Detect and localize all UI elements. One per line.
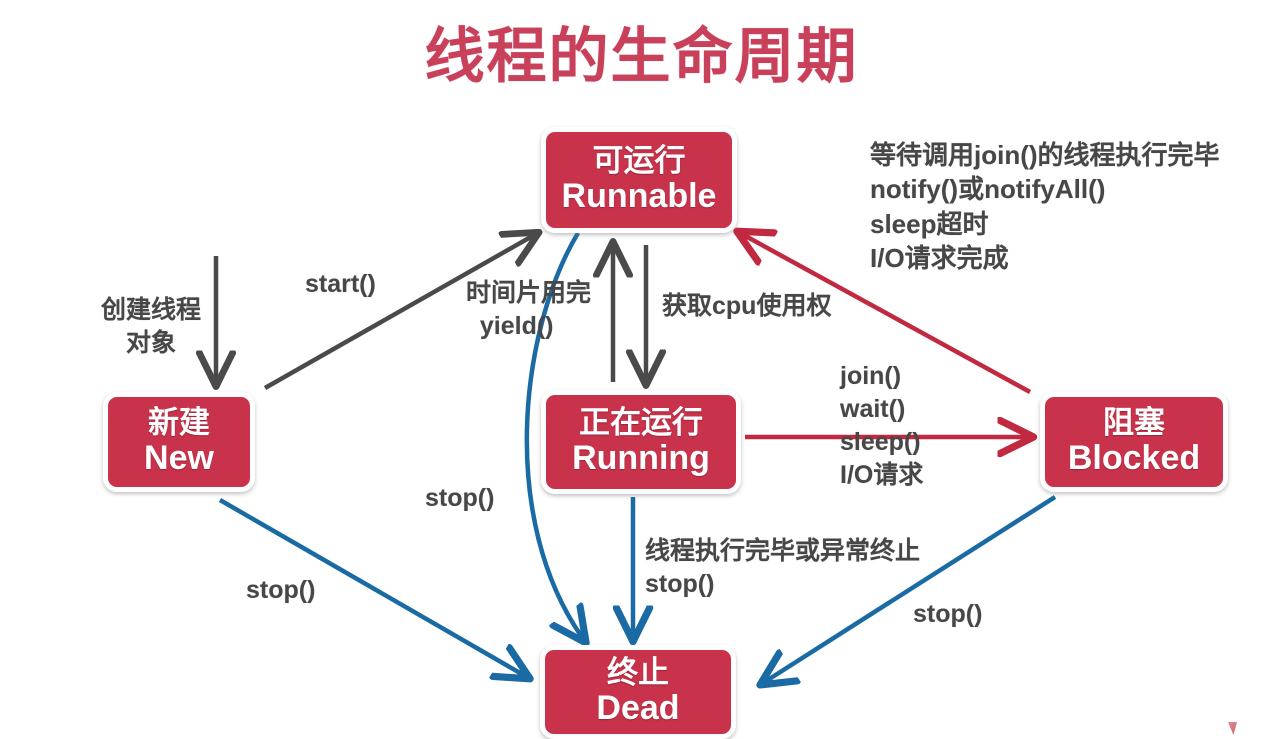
corner-mark-icon <box>1228 722 1237 735</box>
node-new[interactable]: 新建 New <box>103 392 255 492</box>
node-dead-en: Dead <box>596 690 679 727</box>
node-blocked[interactable]: 阻塞 Blocked <box>1040 392 1228 492</box>
page-title: 线程的生命周期 <box>0 8 1283 95</box>
node-new-en: New <box>144 440 214 477</box>
edge-layer <box>0 0 1283 739</box>
node-running-cn: 正在运行 <box>579 407 703 440</box>
node-blocked-cn: 阻塞 <box>1103 407 1165 440</box>
node-dead[interactable]: 终止 Dead <box>540 645 736 739</box>
label-create-thread: 创建线程 对象 <box>86 294 216 360</box>
node-runnable-en: Runnable <box>562 178 717 215</box>
node-running-en: Running <box>572 440 710 477</box>
node-runnable[interactable]: 可运行 Runnable <box>541 127 737 233</box>
node-dead-cn: 终止 <box>607 657 669 690</box>
node-blocked-en: Blocked <box>1068 440 1200 477</box>
label-finish-or-exception: 线程执行完毕或异常终止 stop() <box>645 535 920 601</box>
label-unblock-reasons: 等待调用join()的线程执行完毕 notify()或notifyAll() s… <box>870 138 1220 275</box>
node-running[interactable]: 正在运行 Running <box>541 390 741 494</box>
label-start: start() <box>305 268 376 301</box>
label-stop-blocked-dead: stop() <box>913 598 982 631</box>
label-timeslice-yield: 时间片用完 yield() <box>466 277 591 343</box>
label-stop-runnable-dead: stop() <box>425 482 494 515</box>
node-runnable-cn: 可运行 <box>593 145 686 178</box>
label-stop-new-dead: stop() <box>246 574 315 607</box>
node-new-cn: 新建 <box>148 407 210 440</box>
diagram-canvas: 线程的生命周期 <box>0 0 1283 739</box>
label-blocked-reasons: join() wait() sleep() I/O请求 <box>840 360 923 492</box>
label-get-cpu: 获取cpu使用权 <box>662 290 831 323</box>
